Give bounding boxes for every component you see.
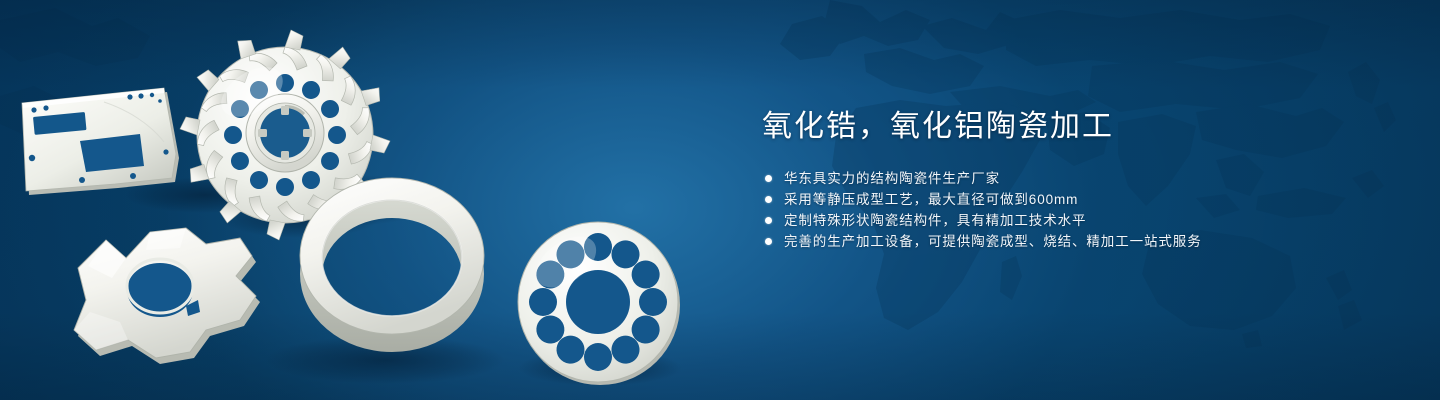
banner-copy-block: 氧化锆，氧化铝陶瓷加工 华东具实力的结构陶瓷件生产厂家 采用等静压成型工艺，最大… — [762, 108, 1382, 252]
ceramic-products-image — [0, 0, 760, 400]
page-title: 氧化锆，氧化铝陶瓷加工 — [762, 108, 1382, 146]
list-item: 华东具实力的结构陶瓷件生产厂家 — [762, 168, 1382, 189]
feature-list: 华东具实力的结构陶瓷件生产厂家 采用等静压成型工艺，最大直径可做到600mm 定… — [762, 168, 1382, 252]
ceramic-flat-plate-shape — [22, 88, 179, 195]
bullet-dot-icon — [765, 175, 772, 182]
bullet-dot-icon — [765, 196, 772, 203]
list-item: 采用等静压成型工艺，最大直径可做到600mm — [762, 189, 1382, 210]
list-item: 定制特殊形状陶瓷结构件，具有精加工技术水平 — [762, 210, 1382, 231]
ceramic-cross-part-shape — [74, 228, 260, 364]
promo-banner: 氧化锆，氧化铝陶瓷加工 华东具实力的结构陶瓷件生产厂家 采用等静压成型工艺，最大… — [0, 0, 1440, 400]
list-item-label: 完善的生产加工设备，可提供陶瓷成型、烧结、精加工一站式服务 — [784, 231, 1202, 252]
bullet-dot-icon — [765, 217, 772, 224]
bullet-dot-icon — [765, 238, 772, 245]
ceramic-thin-ring-shape — [300, 178, 484, 352]
list-item-label: 华东具实力的结构陶瓷件生产厂家 — [784, 168, 1000, 189]
list-item-label: 定制特殊形状陶瓷结构件，具有精加工技术水平 — [784, 210, 1086, 231]
list-item-label: 采用等静压成型工艺，最大直径可做到600mm — [784, 189, 1078, 210]
list-item: 完善的生产加工设备，可提供陶瓷成型、烧结、精加工一站式服务 — [762, 231, 1382, 252]
